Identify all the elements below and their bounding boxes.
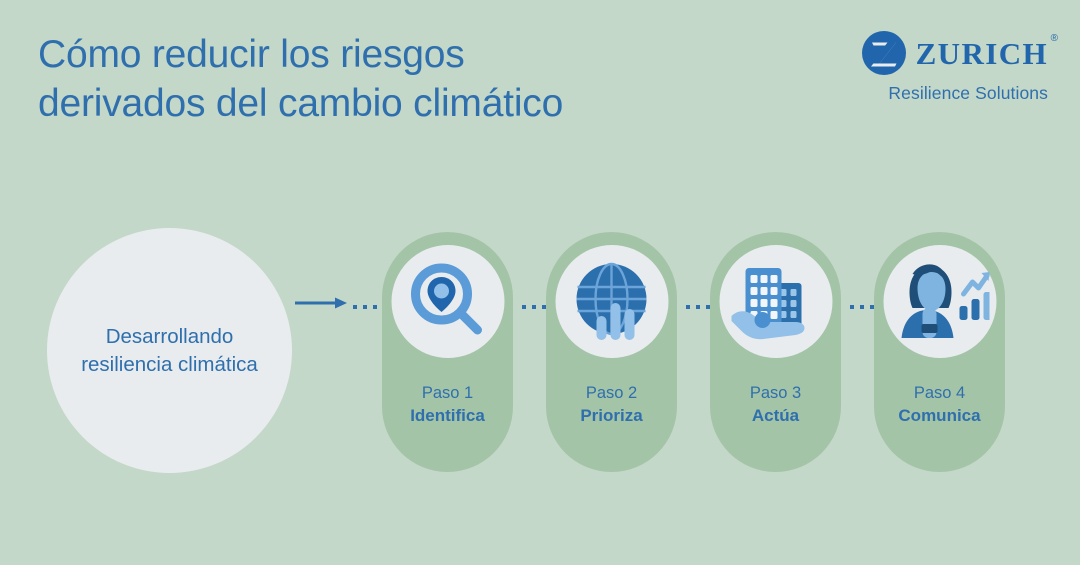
step-label-4: Paso 4 Comunica — [874, 382, 1005, 427]
globe-bar-chart-icon — [569, 259, 655, 345]
connector-dots-3-4 — [850, 305, 874, 309]
logo-row: ZURICH ® — [848, 30, 1048, 76]
dot — [532, 305, 536, 309]
step-card-1[interactable]: Paso 1 Identifica — [382, 232, 513, 472]
dot — [353, 305, 357, 309]
step-icon-circle-1 — [391, 245, 504, 358]
logo-wordmark: ZURICH ® — [916, 38, 1048, 69]
arrow-right-icon — [295, 296, 357, 310]
step-number-4: Paso 4 — [874, 382, 1005, 404]
step-icon-circle-2 — [555, 245, 668, 358]
step-name-2: Prioriza — [546, 404, 677, 427]
step-label-3: Paso 3 Actúa — [710, 382, 841, 427]
dot — [522, 305, 526, 309]
step-name-4: Comunica — [874, 404, 1005, 427]
connector-dots-1-2 — [522, 305, 546, 309]
dot — [696, 305, 700, 309]
step-name-3: Actúa — [710, 404, 841, 427]
page-title: Cómo reducir los riesgos derivados del c… — [38, 30, 738, 128]
logo-wordmark-text: ZURICH — [916, 36, 1048, 71]
step-number-3: Paso 3 — [710, 382, 841, 404]
step-label-2: Paso 2 Prioriza — [546, 382, 677, 427]
step-label-1: Paso 1 Identifica — [382, 382, 513, 427]
step-card-4[interactable]: Paso 4 Comunica — [874, 232, 1005, 472]
start-circle-label: Desarrollando resiliencia climática — [81, 323, 258, 379]
connector-dots-2-3 — [686, 305, 710, 309]
hand-holding-buildings-icon — [730, 259, 822, 345]
step-icon-circle-4 — [883, 245, 996, 358]
dot — [373, 305, 377, 309]
registered-trademark-icon: ® — [1051, 34, 1058, 44]
logo-tagline: Resilience Solutions — [848, 83, 1048, 104]
step-number-1: Paso 1 — [382, 382, 513, 404]
step-icon-circle-3 — [719, 245, 832, 358]
dot — [850, 305, 854, 309]
step-number-2: Paso 2 — [546, 382, 677, 404]
dot — [686, 305, 690, 309]
start-circle: Desarrollando resiliencia climática — [47, 228, 292, 473]
magnifier-location-pin-icon — [406, 260, 490, 344]
step-name-1: Identifica — [382, 404, 513, 427]
step-card-3[interactable]: Paso 3 Actúa — [710, 232, 841, 472]
step-card-2[interactable]: Paso 2 Prioriza — [546, 232, 677, 472]
dot — [860, 305, 864, 309]
zurich-logo: ZURICH ® Resilience Solutions — [848, 30, 1048, 104]
dot — [363, 305, 367, 309]
person-microphone-chart-icon — [890, 254, 990, 350]
zurich-z-icon — [861, 30, 907, 76]
